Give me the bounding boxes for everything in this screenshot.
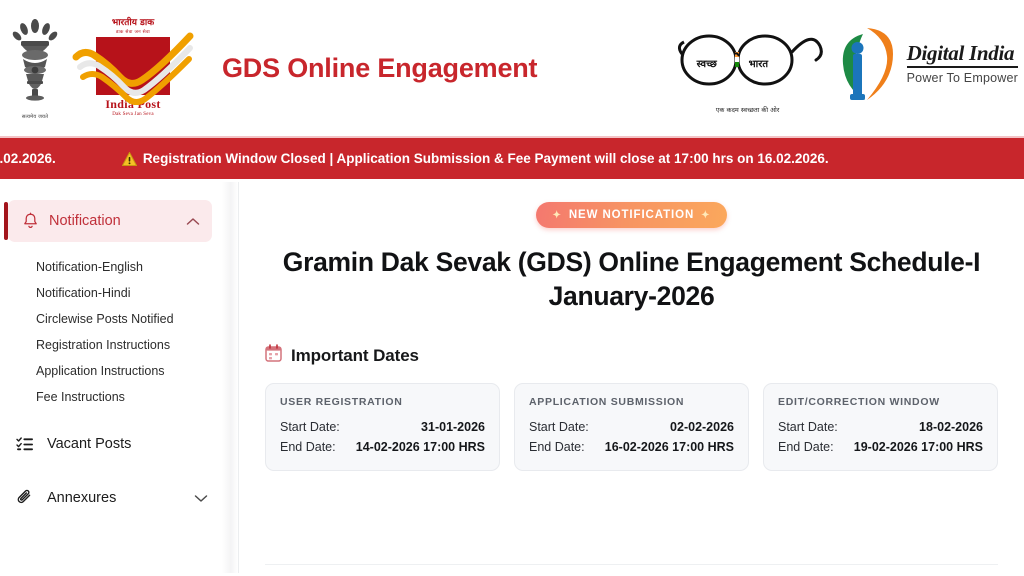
sparkle-left-icon: ✦: [553, 210, 562, 221]
sidebar-item-annexures[interactable]: Annexures: [0, 478, 222, 518]
chevron-down-icon[interactable]: [194, 494, 208, 503]
sidebar-subitem-application-instructions[interactable]: Application Instructions: [36, 358, 222, 384]
important-dates-header: Important Dates: [265, 344, 998, 367]
date-card-start-row: Start Date: 18-02-2026: [778, 417, 983, 437]
swachh-caption: एक कदम स्वच्छता की ओर: [673, 105, 823, 114]
digital-india-title: Digital India: [907, 43, 1018, 68]
paperclip-icon: [16, 489, 36, 507]
date-card-end-row: End Date: 19-02-2026 17:00 HRS: [778, 437, 983, 457]
header-logos: स्वच्छ भारत एक कदम स्वच्छता की ओर Digita…: [673, 12, 1018, 116]
badge-row: ✦ NEW NOTIFICATION ✦: [265, 202, 998, 228]
digital-india-mark-icon: [837, 22, 903, 106]
chevron-up-icon[interactable]: [186, 217, 200, 226]
date-card-title: EDIT/CORRECTION WINDOW: [778, 396, 983, 408]
sidebar-subitem-notification-hindi[interactable]: Notification-Hindi: [36, 280, 222, 306]
date-card-start-value: 18-02-2026: [919, 420, 983, 434]
date-card-title: USER REGISTRATION: [280, 396, 485, 408]
bell-icon: [22, 212, 39, 230]
new-notification-badge[interactable]: ✦ NEW NOTIFICATION ✦: [536, 202, 728, 228]
page-title: Gramin Dak Sevak (GDS) Online Engagement…: [265, 246, 998, 313]
main-content-panel: ✦ NEW NOTIFICATION ✦ Gramin Dak Sevak (G…: [238, 182, 1024, 573]
india-post-logo: भारतीय डाक डाक सेवा जन सेवा India Post D…: [74, 8, 192, 128]
date-card-end-label: End Date:: [529, 440, 585, 454]
sidebar-content-gap: [222, 182, 238, 573]
important-dates-title: Important Dates: [291, 346, 419, 366]
state-emblem-icon: [9, 17, 61, 113]
date-card-end-label: End Date:: [778, 440, 834, 454]
alert-marquee-bar: 6.02.2026. Registration Window Closed | …: [0, 138, 1024, 182]
state-emblem: सत्यमेव जयते: [4, 9, 66, 127]
warning-triangle-icon: [122, 152, 137, 166]
list-check-icon: [16, 436, 36, 452]
date-card-end-label: End Date:: [280, 440, 336, 454]
date-card-start-row: Start Date: 31-01-2026: [280, 417, 485, 437]
sidebar-subitems: Notification-English Notification-Hindi …: [0, 254, 222, 410]
date-card-end-row: End Date: 14-02-2026 17:00 HRS: [280, 437, 485, 457]
new-notification-badge-label: NEW NOTIFICATION: [569, 209, 694, 221]
swachh-text-left: स्वच्छ: [697, 56, 717, 70]
digital-india-logo: Digital India Power To Empower: [837, 21, 1018, 107]
page-brand-title: GDS Online Engagement: [222, 53, 537, 84]
calendar-icon: [265, 344, 282, 367]
page-title-line-1: Gramin Dak Sevak (GDS) Online Engagement…: [265, 246, 998, 280]
sidebar-subitem-fee-instructions[interactable]: Fee Instructions: [36, 384, 222, 410]
important-dates-cards: USER REGISTRATION Start Date: 31-01-2026…: [265, 383, 998, 471]
sidebar-item-annexures-label: Annexures: [47, 490, 194, 506]
alert-message: Registration Window Closed | Application…: [143, 151, 829, 166]
sidebar-subitem-circlewise-posts[interactable]: Circlewise Posts Notified: [36, 306, 222, 332]
date-card-end-value: 14-02-2026 17:00 HRS: [356, 440, 485, 454]
swachh-text-right: भारत: [749, 56, 768, 70]
sparkle-right-icon: ✦: [701, 210, 710, 221]
sidebar-item-notification[interactable]: Notification: [8, 200, 212, 242]
date-card-title: APPLICATION SUBMISSION: [529, 396, 734, 408]
alert-message-group: Registration Window Closed | Application…: [122, 151, 829, 166]
date-card-end-value: 16-02-2026 17:00 HRS: [605, 440, 734, 454]
sidebar-subitem-notification-english[interactable]: Notification-English: [36, 254, 222, 280]
date-card-start-value: 31-01-2026: [421, 420, 485, 434]
content-divider: [265, 564, 998, 565]
date-card: APPLICATION SUBMISSION Start Date: 02-02…: [514, 383, 749, 471]
date-card-start-label: Start Date:: [529, 420, 589, 434]
date-card-start-value: 02-02-2026: [670, 420, 734, 434]
sidebar-item-notification-label: Notification: [49, 213, 186, 229]
date-card-start-row: Start Date: 02-02-2026: [529, 417, 734, 437]
body-wrapper: Notification Notification-English Notifi…: [0, 182, 1024, 573]
page-root: सत्यमेव जयते भारतीय डाक डाक सेवा जन सेवा…: [0, 0, 1024, 576]
date-card-end-value: 19-02-2026 17:00 HRS: [854, 440, 983, 454]
swachh-bharat-logo: स्वच्छ भारत एक कदम स्वच्छता की ओर: [673, 12, 823, 116]
page-title-line-2: January-2026: [265, 280, 998, 314]
india-post-mark-icon: [96, 37, 170, 95]
date-card-start-label: Start Date:: [280, 420, 340, 434]
sidebar-item-vacant-posts-label: Vacant Posts: [47, 436, 208, 452]
sidebar-nav: Notification Notification-English Notifi…: [0, 182, 222, 573]
date-card-end-row: End Date: 16-02-2026 17:00 HRS: [529, 437, 734, 457]
sidebar-item-vacant-posts[interactable]: Vacant Posts: [0, 424, 222, 464]
alert-previous-fragment: 6.02.2026.: [0, 151, 56, 166]
spectacles-icon: [673, 12, 823, 104]
date-card: EDIT/CORRECTION WINDOW Start Date: 18-02…: [763, 383, 998, 471]
emblem-motto: सत्यमेव जयते: [22, 114, 48, 120]
digital-india-subtitle: Power To Empower: [907, 72, 1018, 85]
site-header: सत्यमेव जयते भारतीय डाक डाक सेवा जन सेवा…: [0, 0, 1024, 138]
india-post-tagline: Dak Seva Jan Seva: [112, 112, 154, 117]
date-card: USER REGISTRATION Start Date: 31-01-2026…: [265, 383, 500, 471]
date-card-start-label: Start Date:: [778, 420, 838, 434]
sidebar-subitem-registration-instructions[interactable]: Registration Instructions: [36, 332, 222, 358]
